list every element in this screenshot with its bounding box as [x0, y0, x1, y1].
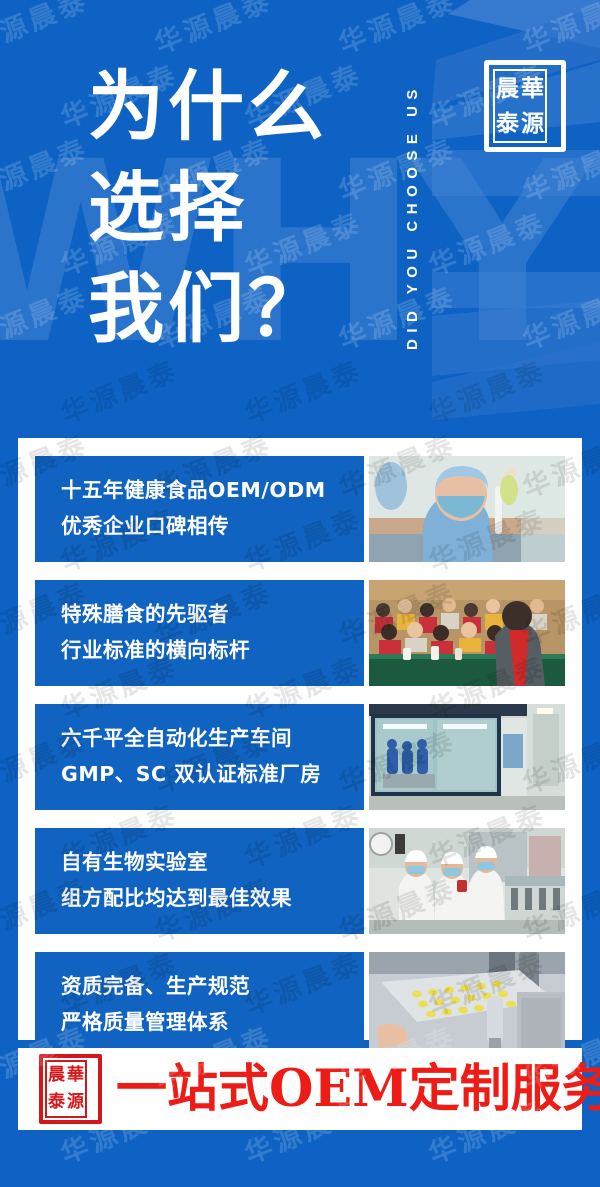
- title-line-2: 选择: [88, 157, 378, 258]
- feature-card-3-line-2: GMP、SC 双认证标准厂房: [61, 756, 364, 792]
- feature-card-1-text: 十五年健康食品OEM/ODM 优秀企业口碑相传: [35, 456, 364, 562]
- feature-card-4-text: 自有生物实验室 组方配比均达到最佳效果: [35, 828, 364, 934]
- feature-card-4-line-1: 自有生物实验室: [61, 844, 364, 880]
- seal-inner-border: 晨 華 泰 源: [493, 69, 547, 143]
- seal-bottom-char-4: 源: [67, 1094, 84, 1111]
- feature-card-2-image: [369, 580, 565, 686]
- seal-bottom-char-1: 晨: [48, 1067, 65, 1084]
- feature-card-2-line-2: 行业标准的横向标杆: [61, 632, 364, 668]
- feature-card-1-line-2: 优秀企业口碑相传: [61, 508, 364, 544]
- feature-card-1[interactable]: 十五年健康食品OEM/ODM 优秀企业口碑相传: [35, 456, 565, 562]
- feature-card-4-image: [369, 828, 565, 934]
- feature-card-5-image: [369, 952, 565, 1058]
- hero-section: 为什么 选择 我们？ DID YOU CHOOSE US 晨 華 泰 源: [0, 0, 600, 438]
- title-line-3: 我们？: [88, 258, 378, 359]
- bottom-cta-banner[interactable]: 晨 華 泰 源 一站式OEM定制服务: [18, 1048, 582, 1130]
- company-seal-logo-red: 晨 華 泰 源: [39, 1054, 102, 1124]
- bottom-cta-text: 一站式OEM定制服务: [116, 1060, 600, 1118]
- feature-card-2-line-1: 特殊膳食的先驱者: [61, 596, 364, 632]
- seal-char-4: 源: [521, 112, 544, 135]
- seal-bottom-char-3: 泰: [48, 1094, 65, 1111]
- feature-card-3[interactable]: 六千平全自动化生产车间 GMP、SC 双认证标准厂房: [35, 704, 565, 810]
- feature-card-5[interactable]: 资质完备、生产规范 严格质量管理体系: [35, 952, 565, 1058]
- feature-card-5-line-1: 资质完备、生产规范: [61, 968, 364, 1004]
- title-line-1: 为什么: [88, 56, 378, 157]
- vertical-english-tagline: DID YOU CHOOSE US: [404, 22, 430, 412]
- feature-card-5-text: 资质完备、生产规范 严格质量管理体系: [35, 952, 364, 1058]
- seal-char-3: 泰: [496, 112, 519, 135]
- feature-card-2-text: 特殊膳食的先驱者 行业标准的横向标杆: [35, 580, 364, 686]
- company-seal-logo: 晨 華 泰 源: [484, 60, 566, 152]
- feature-card-1-image: [369, 456, 565, 562]
- seal-bottom-inner-border: 晨 華 泰 源: [45, 1060, 87, 1118]
- feature-card-3-image: [369, 704, 565, 810]
- features-panel: 十五年健康食品OEM/ODM 优秀企业口碑相传 特殊膳食的先: [18, 438, 582, 1040]
- feature-card-5-line-2: 严格质量管理体系: [61, 1004, 364, 1040]
- feature-card-3-text: 六千平全自动化生产车间 GMP、SC 双认证标准厂房: [35, 704, 364, 810]
- seal-bottom-char-2: 華: [67, 1067, 84, 1084]
- feature-card-4[interactable]: 自有生物实验室 组方配比均达到最佳效果: [35, 828, 565, 934]
- seal-char-2: 華: [521, 77, 544, 100]
- seal-char-1: 晨: [496, 77, 519, 100]
- feature-card-3-line-1: 六千平全自动化生产车间: [61, 720, 364, 756]
- feature-card-2[interactable]: 特殊膳食的先驱者 行业标准的横向标杆: [35, 580, 565, 686]
- page-title: 为什么 选择 我们？: [88, 56, 378, 359]
- feature-card-4-line-2: 组方配比均达到最佳效果: [61, 880, 364, 916]
- feature-card-1-line-1: 十五年健康食品OEM/ODM: [61, 472, 364, 508]
